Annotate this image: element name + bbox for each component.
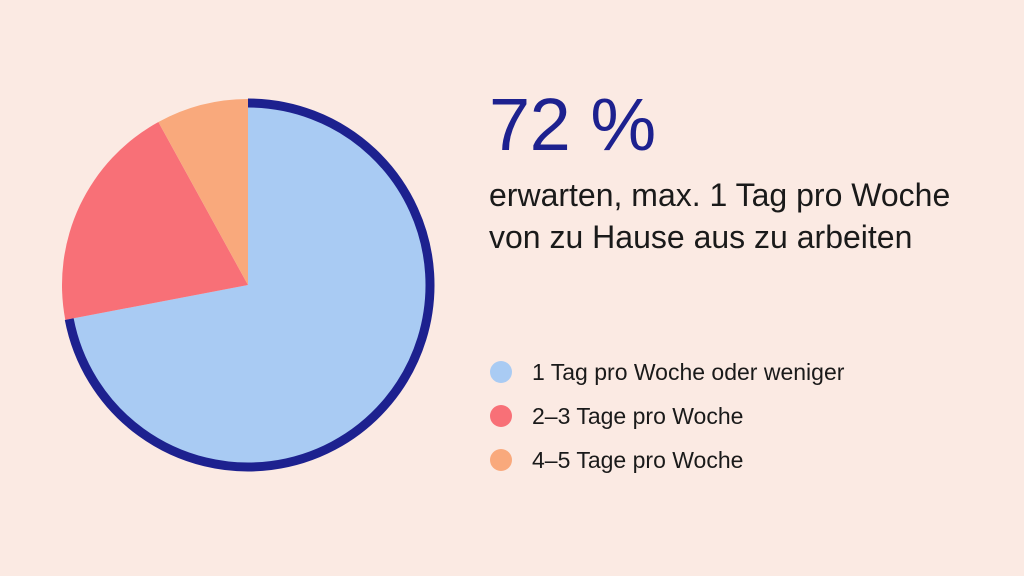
chart-legend: 1 Tag pro Woche oder weniger 2–3 Tage pr… [490, 350, 980, 482]
pie-chart [0, 0, 480, 576]
legend-swatch-icon [490, 361, 512, 383]
legend-item-label: 1 Tag pro Woche oder weniger [532, 359, 844, 385]
infographic-root: 72 % erwarten, max. 1 Tag pro Woche von … [0, 0, 1024, 576]
legend-item-2-3-tage[interactable]: 2–3 Tage pro Woche [490, 394, 980, 438]
legend-item-4-5-tage[interactable]: 4–5 Tage pro Woche [490, 438, 980, 482]
legend-item-label: 4–5 Tage pro Woche [532, 447, 743, 473]
legend-swatch-icon [490, 405, 512, 427]
legend-swatch-icon [490, 449, 512, 471]
legend-item-label: 2–3 Tage pro Woche [532, 403, 743, 429]
callout-description: erwarten, max. 1 Tag pro Woche von zu Ha… [489, 174, 969, 258]
legend-item-1-tag-oder-weniger[interactable]: 1 Tag pro Woche oder weniger [490, 350, 980, 394]
headline-statistic: 72 % [489, 86, 989, 164]
pie-chart-svg [0, 0, 480, 576]
callout-block: 72 % erwarten, max. 1 Tag pro Woche von … [489, 86, 989, 258]
